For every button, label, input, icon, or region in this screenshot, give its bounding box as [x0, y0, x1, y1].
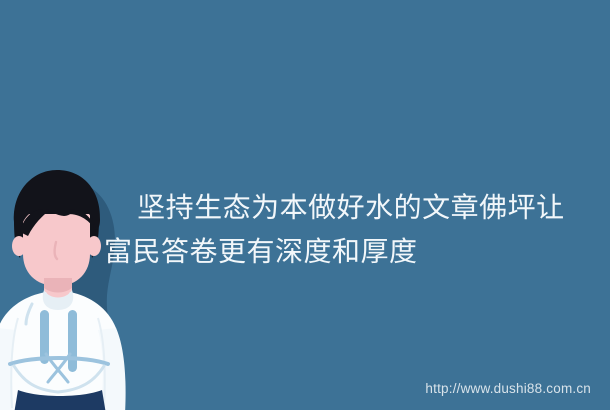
neck-shade [44, 278, 72, 293]
headline-line-1: 坚持生态为本做好水的文章佛坪让 [137, 192, 565, 223]
site-url-watermark: http://www.dushi88.com.cn [425, 381, 591, 396]
headline-line-2: 富民答卷更有深度和厚度 [104, 236, 418, 267]
headline-title: 坚持生态为本做好水的文章佛坪让富民答卷更有深度和厚度 [104, 142, 574, 318]
promo-banner: 坚持生态为本做好水的文章佛坪让富民答卷更有深度和厚度 http://www.du… [0, 0, 610, 410]
drawstring-right [68, 310, 77, 372]
